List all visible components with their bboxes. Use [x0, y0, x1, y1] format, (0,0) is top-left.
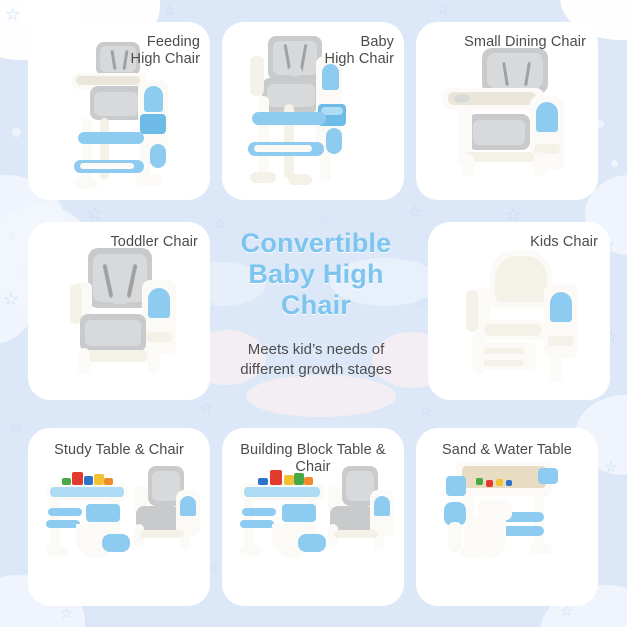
panel-sand-water-table[interactable]: Sand & Water Table — [416, 428, 598, 606]
main-title-line-3: Chair — [205, 290, 427, 321]
panel-label: Baby High Chair — [284, 34, 394, 68]
product-image-sand-water-table — [438, 458, 580, 584]
product-image-toddler-chair — [64, 248, 188, 388]
product-image-study-table-chair — [36, 462, 204, 586]
star-icon: ☆ — [420, 404, 433, 418]
panel-study-table-chair[interactable]: Study Table & Chair — [28, 428, 210, 606]
product-image-kids-chair — [458, 250, 588, 390]
subtitle: Meets kid’s needs of different growth st… — [197, 340, 435, 380]
main-title: Convertible Baby High Chair — [205, 228, 427, 321]
star-icon: ☆ — [436, 2, 449, 17]
star-icon: ☆ — [3, 290, 19, 308]
star-icon: ☆ — [408, 205, 422, 221]
star-icon: ☆ — [560, 604, 573, 619]
panel-building-block-table-chair[interactable]: Building Block Table & Chair — [222, 428, 404, 606]
star-icon: ☆ — [163, 3, 176, 17]
panel-label: Sand & Water Table — [416, 442, 598, 459]
cloud-shape — [246, 375, 396, 417]
panel-baby-high-chair[interactable]: Baby High Chair — [222, 22, 404, 200]
panel-feeding-high-chair[interactable]: Feeding High Chair — [28, 22, 210, 200]
panel-toddler-chair[interactable]: Toddler Chair — [28, 222, 210, 400]
panel-small-dining-chair[interactable]: Small Dining Chair — [416, 22, 598, 200]
star-icon: ☆ — [200, 400, 213, 414]
dot-decoration — [611, 160, 618, 167]
star-icon: ☆ — [60, 606, 73, 620]
subtitle-line-2: different growth stages — [197, 360, 435, 380]
panel-label: Building Block Table & Chair — [222, 442, 404, 476]
star-icon: ☆ — [604, 460, 617, 475]
subtitle-line-1: Meets kid’s needs of — [197, 340, 435, 360]
star-icon: ☆ — [318, 212, 330, 225]
panel-label: Kids Chair — [478, 234, 598, 251]
product-image-small-dining-chair — [434, 48, 584, 180]
dot-decoration — [8, 232, 16, 240]
star-icon: ☆ — [5, 6, 20, 23]
star-icon: ☆ — [9, 420, 23, 436]
main-title-line-2: Baby High — [205, 259, 427, 290]
panel-kids-chair[interactable]: Kids Chair — [428, 222, 610, 400]
main-title-line-1: Convertible — [205, 228, 427, 259]
panel-label: Study Table & Chair — [28, 442, 210, 459]
panel-label: Small Dining Chair — [436, 34, 586, 51]
infographic-canvas: ☆ ☆ ☆ ☆ ☆ ☆ ☆ ☆ ☆ ☆ ☆ ☆ ☆ ☆ ☆ ☆ ☆ ☆ ☆ ☆ … — [0, 0, 627, 627]
product-image-building-block-table-chair — [230, 462, 398, 586]
panel-label: Feeding High Chair — [80, 34, 200, 68]
dot-decoration — [12, 128, 21, 137]
panel-label: Toddler Chair — [68, 234, 198, 251]
